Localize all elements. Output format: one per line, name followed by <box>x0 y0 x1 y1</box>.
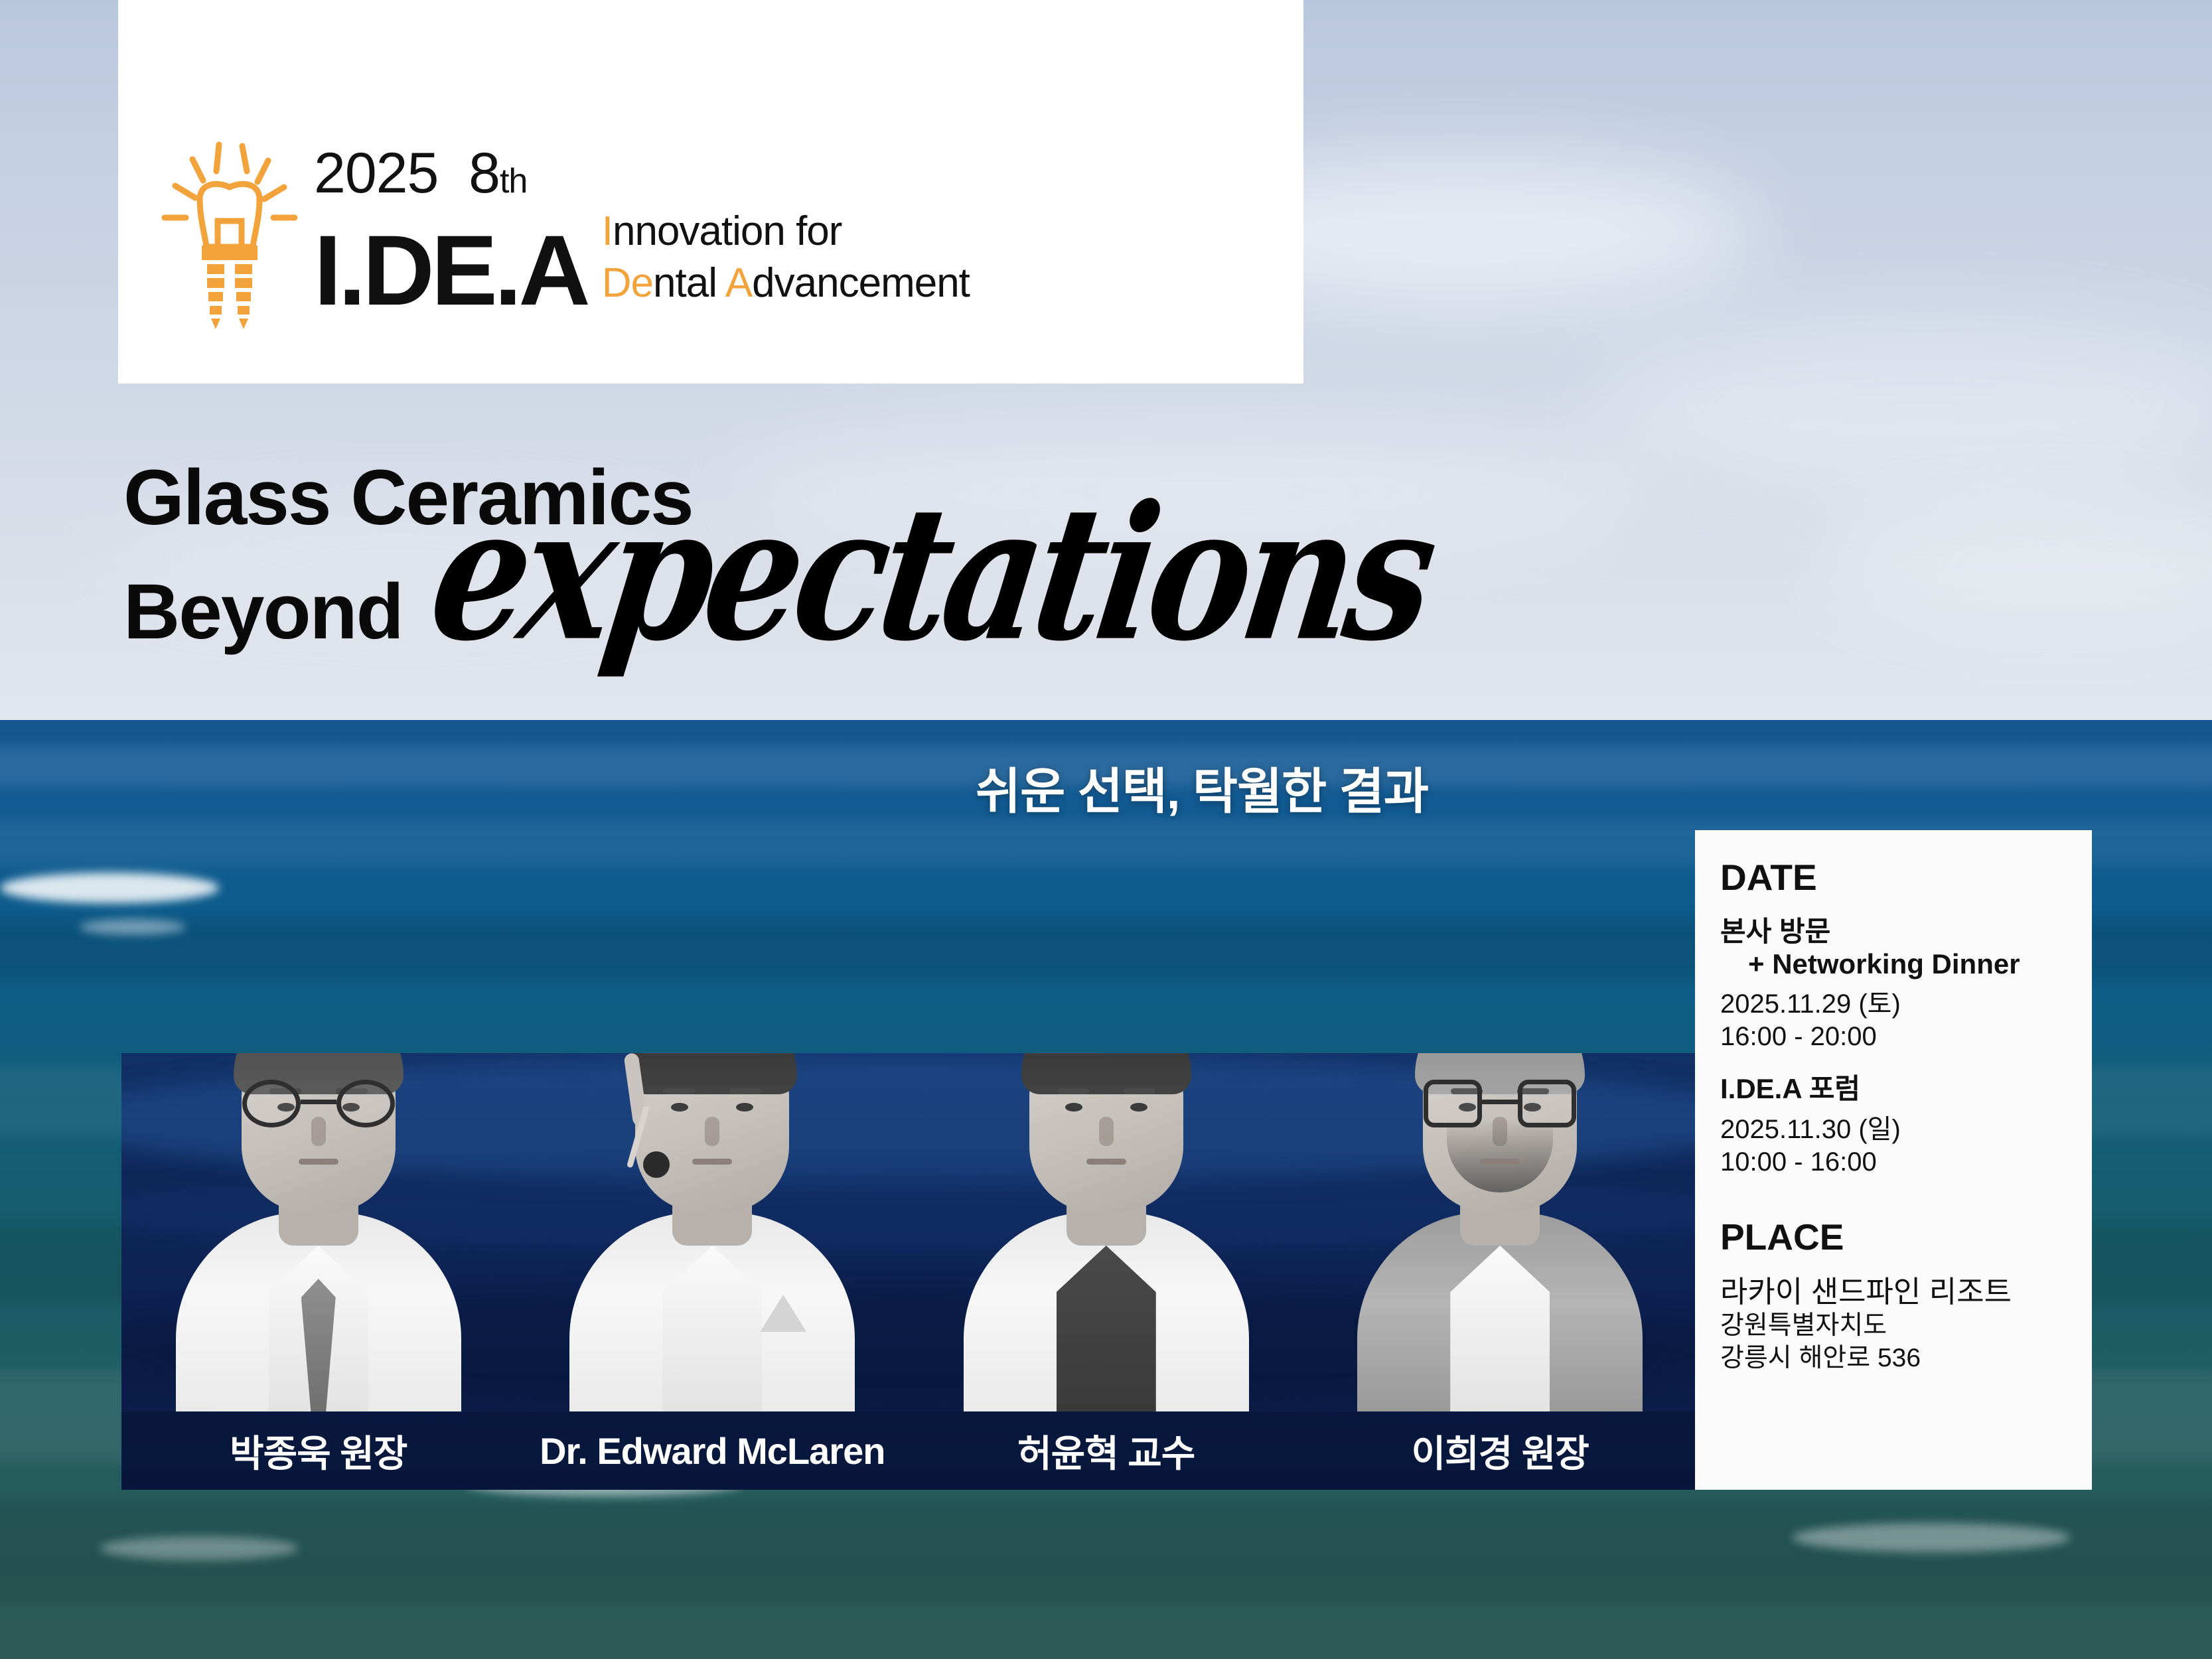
foam-shape <box>1792 1523 2071 1552</box>
place-address-line-1: 강원특별자치도 <box>1720 1310 2068 1342</box>
speaker-portrait <box>1303 1053 1698 1411</box>
event1-title: 본사 방문 <box>1720 916 1830 947</box>
speaker-panel: 박종욱 원장 <box>121 1053 1697 1490</box>
speaker-name: 허윤혁 교수 <box>1017 1424 1195 1478</box>
mouth-shape <box>692 1159 732 1165</box>
speaker-list: 박종욱 원장 <box>121 1053 1697 1490</box>
eyebrow-shape <box>663 1088 695 1094</box>
speaker-card[interactable]: Dr. Edward McLaren <box>516 1053 910 1490</box>
eye-shape <box>1065 1103 1082 1112</box>
logo-edition: 8 <box>469 141 500 205</box>
mouth-shape <box>1480 1159 1520 1165</box>
date-heading: DATE <box>1720 859 2068 896</box>
speaker-portrait <box>909 1053 1303 1411</box>
eye-shape <box>1130 1103 1147 1112</box>
speaker-portrait <box>516 1053 910 1411</box>
mouth-shape <box>299 1159 338 1165</box>
tagline-line-2: Dental Advancement <box>602 257 970 309</box>
event1-date: 2025.11.29 (토) <box>1720 988 2068 1021</box>
place-address-line-2: 강릉시 해안로 536 <box>1720 1342 2068 1374</box>
foam-shape <box>100 1536 299 1560</box>
logo-tagline: Innovation for Dental Advancement <box>602 206 970 316</box>
headline-line-2: Beyond <box>123 567 403 657</box>
event-info-panel: DATE 본사 방문 + Networking Dinner 2025.11.2… <box>1695 830 2092 1490</box>
speaker-name: 박종욱 원장 <box>230 1424 407 1478</box>
headline-script-word: expectations <box>425 507 1437 640</box>
eyebrow-shape <box>1124 1088 1155 1094</box>
cloud-shape <box>1593 319 2212 491</box>
event2-time: 10:00 - 16:00 <box>1720 1146 2068 1179</box>
eye-shape <box>671 1103 688 1112</box>
eyeglasses-icon <box>242 1080 395 1127</box>
logo-card: 2025 8th I.DE.A Innovation for Dental Ad… <box>118 0 1303 384</box>
tooth-implant-icon <box>158 139 301 332</box>
event1-title-continued: + Networking Dinner <box>1720 948 2068 981</box>
foam-shape <box>0 873 219 903</box>
event2-date: 2025.11.30 (일) <box>1720 1114 2068 1146</box>
eyebrow-shape <box>1057 1088 1089 1094</box>
speaker-name: Dr. Edward McLaren <box>540 1429 885 1473</box>
nose-shape <box>1099 1117 1114 1146</box>
speaker-name-bar: 박종욱 원장 <box>121 1411 516 1490</box>
event1-time: 16:00 - 20:00 <box>1720 1021 2068 1053</box>
speaker-portrait <box>121 1053 516 1411</box>
nose-shape <box>705 1117 719 1146</box>
headline-subhead: 쉬운 선택, 탁월한 결과 <box>976 752 1428 823</box>
eye-shape <box>736 1103 753 1112</box>
foam-shape <box>80 919 186 935</box>
headline-block: Glass Ceramics Beyond expectations <box>123 458 1418 657</box>
microphone-icon <box>643 1151 670 1178</box>
logo-year-edition: 2025 8th <box>314 145 970 202</box>
wave-band <box>0 1503 2212 1603</box>
eyeglasses-icon <box>1424 1080 1576 1127</box>
speaker-name-bar: 이희경 원장 <box>1303 1411 1698 1490</box>
speaker-name: 이희경 원장 <box>1412 1424 1589 1478</box>
event2-title: I.DE.A 포럼 <box>1720 1073 2068 1106</box>
speaker-card[interactable]: 이희경 원장 <box>1303 1053 1698 1490</box>
speaker-card[interactable]: 박종욱 원장 <box>121 1053 516 1490</box>
hair-shape <box>627 1053 797 1094</box>
logo-acronym: I.DE.A <box>314 224 587 316</box>
event1-title-block: 본사 방문 + Networking Dinner <box>1720 916 2068 980</box>
speaker-card[interactable]: 허윤혁 교수 <box>909 1053 1303 1490</box>
cloud-shape <box>1825 504 2212 624</box>
place-name: 라카이 샌드파인 리조트 <box>1720 1274 2068 1310</box>
place-heading: PLACE <box>1720 1219 2068 1256</box>
poster-root: 2025 8th I.DE.A Innovation for Dental Ad… <box>0 0 2212 1659</box>
tagline-line-1: Innovation for <box>602 206 970 257</box>
logo-year: 2025 <box>314 141 438 205</box>
hair-shape <box>1021 1053 1191 1094</box>
mouth-shape <box>1086 1159 1126 1165</box>
speaker-name-bar: Dr. Edward McLaren <box>516 1411 910 1490</box>
speaker-name-bar: 허윤혁 교수 <box>909 1411 1303 1490</box>
logo-edition-suffix: th <box>500 162 527 200</box>
eyebrow-shape <box>729 1088 761 1094</box>
